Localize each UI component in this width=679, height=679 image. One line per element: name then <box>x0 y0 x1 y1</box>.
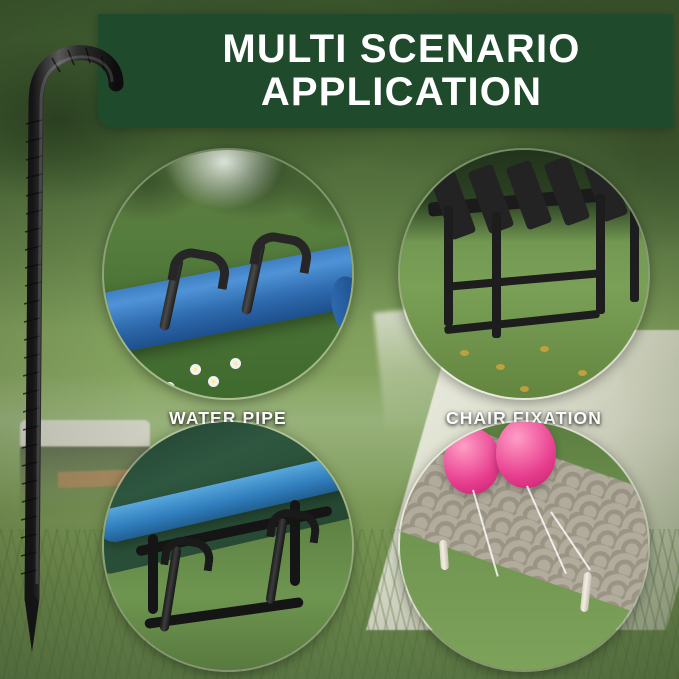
card-trampoline-photo <box>102 420 354 672</box>
card-chair-fixation[interactable]: CHAIR FIXATION <box>398 148 650 429</box>
title-line-2: APPLICATION <box>222 71 580 114</box>
poster-title: MULTI SCENARIO APPLICATION <box>180 28 590 114</box>
card-decoration-photo <box>398 420 650 672</box>
card-trampoline[interactable]: TRAMPOLINE <box>102 420 354 679</box>
card-water-pipe-photo <box>102 148 354 400</box>
card-water-pipe[interactable]: WATER PIPE <box>102 148 354 429</box>
title-banner: MULTI SCENARIO APPLICATION <box>98 14 673 128</box>
card-chair-fixation-photo <box>398 148 650 400</box>
card-decoration[interactable]: DECORATION <box>398 420 650 679</box>
title-line-1: MULTI SCENARIO <box>222 28 580 71</box>
poster: MULTI SCENARIO APPLICATION <box>0 0 679 679</box>
